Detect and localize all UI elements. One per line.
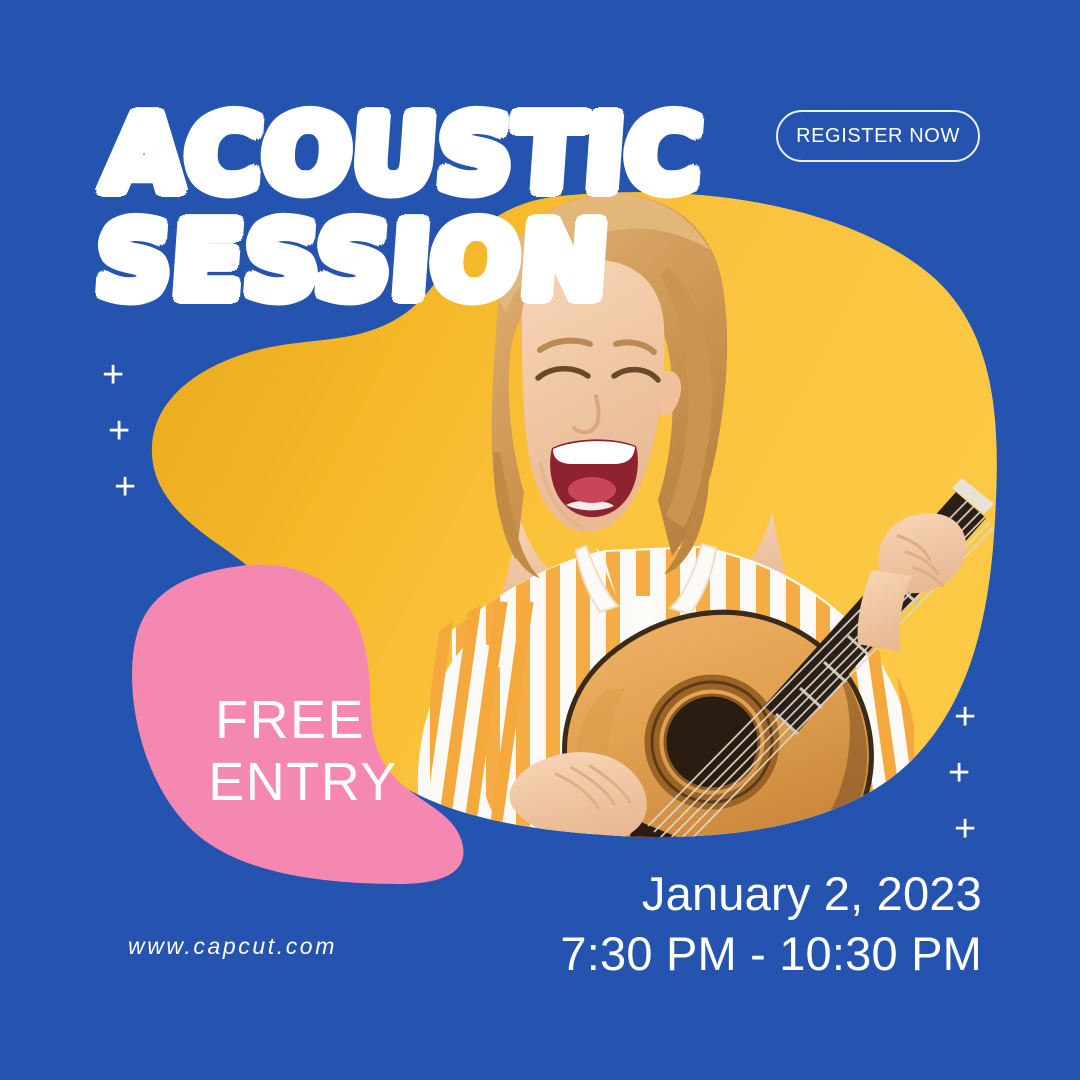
event-schedule: January 2, 2023 7:30 PM - 10:30 PM [560, 864, 982, 984]
free-entry-line-1: FREE [150, 690, 430, 752]
register-now-button[interactable]: REGISTER NOW [776, 110, 980, 162]
plus-icon: + [954, 810, 976, 848]
website-url[interactable]: www.capcut.com [128, 933, 337, 960]
plus-icon: + [954, 698, 976, 736]
plus-icon: + [108, 412, 130, 450]
event-time: 7:30 PM - 10:30 PM [560, 924, 982, 984]
free-entry-line-2: ENTRY [150, 752, 430, 814]
plus-icon: + [948, 754, 970, 792]
headline-line-2: SESSION [93, 211, 699, 312]
plus-icon: + [114, 468, 136, 506]
plus-decoration-right: + + + [940, 698, 1030, 858]
plus-decoration-left: + + + [96, 356, 186, 516]
register-now-label: REGISTER NOW [796, 125, 960, 148]
headline-line-1: ACOUSTIC [100, 104, 706, 205]
poster-canvas: ACOUSTIC SESSION REGISTER NOW FREE ENTRY… [0, 0, 1080, 1080]
event-date: January 2, 2023 [560, 864, 982, 924]
plus-icon: + [102, 356, 124, 394]
free-entry-badge: FREE ENTRY [150, 690, 430, 813]
page-title: ACOUSTIC SESSION [93, 104, 706, 312]
